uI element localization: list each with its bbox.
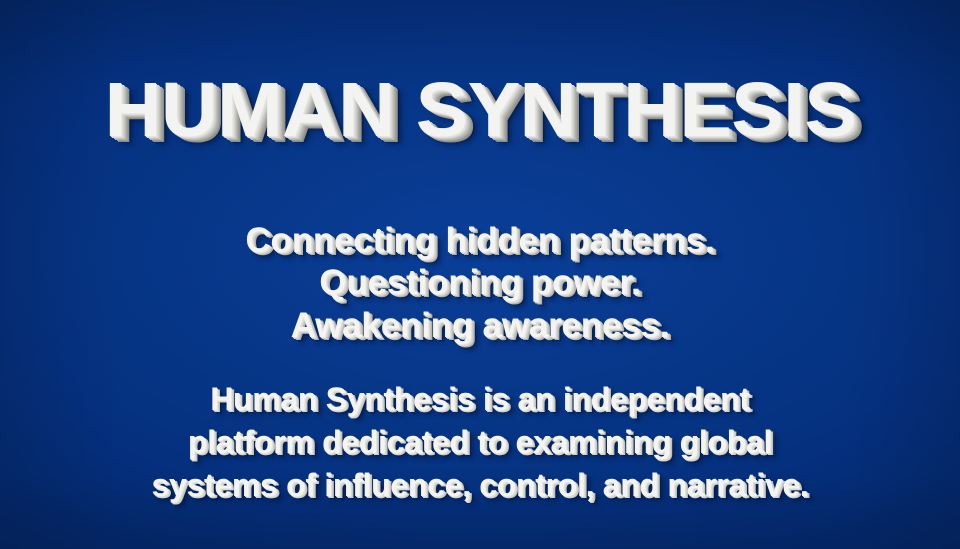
- title-block: HUMAN SYNTHESIS: [0, 21, 960, 200]
- tagline-line-3: Awakening awareness.: [0, 305, 960, 348]
- page-title: HUMAN SYNTHESIS: [104, 73, 856, 148]
- description-block: Human Synthesis is an independent platfo…: [0, 378, 960, 508]
- poster-canvas: HUMAN SYNTHESIS Connecting hidden patter…: [0, 0, 960, 549]
- tagline-line-1: Connecting hidden patterns.: [0, 220, 960, 263]
- description-line-3: systems of influence, control, and narra…: [0, 464, 960, 507]
- description-line-1: Human Synthesis is an independent: [0, 378, 960, 421]
- tagline-block: Connecting hidden patterns. Questioning …: [0, 220, 960, 348]
- tagline-line-2: Questioning power.: [0, 262, 960, 305]
- description-line-2: platform dedicated to examining global: [0, 421, 960, 464]
